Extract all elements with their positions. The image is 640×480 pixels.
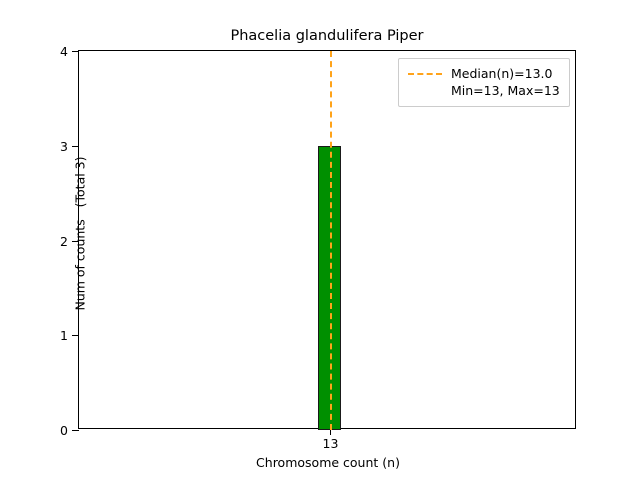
chart-legend[interactable]: Median(n)=13.0 Min=13, Max=13 xyxy=(398,58,570,107)
y-tick-3: 3 xyxy=(72,146,79,147)
y-tick-label-4: 4 xyxy=(60,43,68,61)
y-tick-4: 4 xyxy=(72,51,79,52)
chart-title: Phacelia glandulifera Piper xyxy=(78,28,576,45)
y-tick-label-2: 2 xyxy=(60,233,68,251)
figure-canvas: Phacelia glandulifera Piper Num of count… xyxy=(0,0,640,480)
y-tick-0: 0 xyxy=(72,430,79,431)
y-axis-label: Num of counts (Total 3) xyxy=(73,19,88,449)
median-line-swatch-icon xyxy=(408,65,442,83)
y-tick-label-3: 3 xyxy=(60,138,68,156)
legend-label-minmax: Min=13, Max=13 xyxy=(451,82,560,99)
x-tick-label-13: 13 xyxy=(291,436,371,451)
y-tick-label-0: 0 xyxy=(60,422,68,440)
y-tick-2: 2 xyxy=(72,241,79,242)
y-tick-1: 1 xyxy=(72,335,79,336)
plot-area: Num of counts (Total 3) 0 1 2 3 4 13 Chr… xyxy=(78,50,576,429)
y-tick-label-1: 1 xyxy=(60,327,68,345)
median-vline xyxy=(330,51,332,430)
legend-text-group: Median(n)=13.0 Min=13, Max=13 xyxy=(451,65,560,99)
legend-label-median: Median(n)=13.0 xyxy=(451,65,552,82)
x-axis-label: Chromosome count (n) xyxy=(79,455,577,470)
